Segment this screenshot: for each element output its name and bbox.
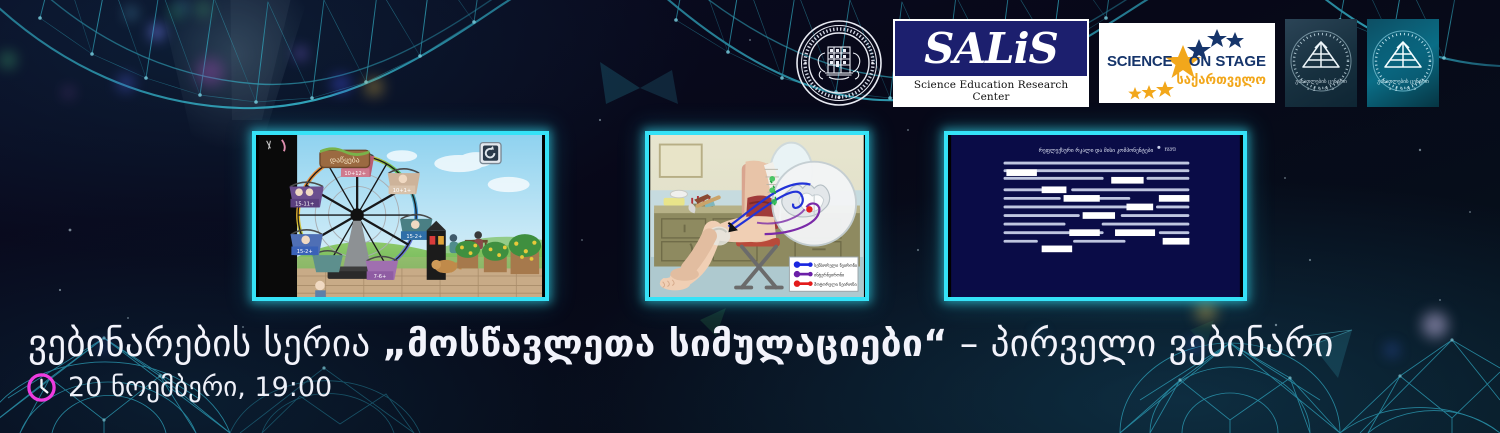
ferris-wheel-artwork: 10+12+ 10+1+ 15-2+ xyxy=(256,135,545,297)
svg-text:მოტორული ნეირონი: მოტორული ნეირონი xyxy=(814,282,856,287)
svg-text:ჯგუფ: ჯგუფ xyxy=(1165,146,1176,152)
ferris-sign-caption: დაწყება xyxy=(330,156,360,165)
salis-banner: SALiS xyxy=(895,21,1087,76)
logo-education-center-light[interactable]: განათლების ცენტრი ა ჭ ა რ ა xyxy=(1285,19,1357,107)
neuron-legend: სენსორული ნეირონი ინტერნეირონი მოტორული … xyxy=(789,257,858,291)
svg-text:ინტერნეირონი: ინტერნეირონი xyxy=(814,272,844,277)
page-title: ვებინარების სერია „მოსწავლეთა სიმულაციებ… xyxy=(28,322,1334,365)
tsu-seal-icon xyxy=(795,19,883,107)
logo-tsu-seal[interactable] xyxy=(795,19,883,107)
knee-reflex-artwork: სენსორული ნეირონი ინტერნეირონი მოტორული … xyxy=(649,135,865,297)
clock-icon xyxy=(26,372,57,403)
title-suffix: – პირველი ვებინარი xyxy=(948,322,1334,365)
svg-text:15-11+: 15-11+ xyxy=(295,202,314,208)
svg-text:15-2+: 15-2+ xyxy=(297,249,313,255)
svg-text:7-6+: 7-6+ xyxy=(374,274,387,280)
logo-bar: SALiS Science Education Research Center xyxy=(795,18,1439,108)
salis-wordmark: SALiS xyxy=(924,28,1058,70)
datetime-text: 20 ნოემბერი, 19:00 xyxy=(68,372,332,403)
svg-text:10+1+: 10+1+ xyxy=(393,188,411,194)
science-on-stage-line2: ON STAGE xyxy=(1189,53,1266,70)
worksheet-slide-title: რეფლექსური რკალი და მისი კომპონენტები xyxy=(1039,147,1154,154)
salis-subtitle: Science Education Research Center xyxy=(895,76,1087,105)
reset-button-icon xyxy=(480,143,501,164)
worksheet-slide-artwork: რეფლექსური რკალი და მისი კომპონენტები ჯგ… xyxy=(948,135,1243,297)
logo-science-on-stage[interactable]: SCIENCE ON STAGE საქართველო xyxy=(1099,19,1275,107)
svg-text:სენსორული ნეირონი: სენსორული ნეირონი xyxy=(814,263,857,268)
svg-text:15-2+: 15-2+ xyxy=(406,234,422,240)
svg-text:ა ჭ ა რ ა: ა ჭ ა რ ა xyxy=(1307,85,1335,92)
science-on-stage-line1: SCIENCE xyxy=(1107,53,1172,70)
pyramid-emblem-icon: განათლების ცენტრი ა ჭ ა რ ა xyxy=(1367,19,1439,107)
logo-education-center-teal[interactable]: განათლების ცენტრი ა ჭ ა რ ა xyxy=(1367,19,1439,107)
science-on-stage-geo: საქართველო xyxy=(1176,73,1266,88)
title-quoted: „მოსწავლეთა სიმულაციები“ xyxy=(382,322,947,365)
thumbnail-worksheet-slide[interactable]: რეფლექსური რკალი და მისი კომპონენტები ჯგ… xyxy=(944,131,1247,301)
svg-text:10+12+: 10+12+ xyxy=(344,171,366,177)
title-prefix: ვებინარების სერია xyxy=(28,322,382,365)
pyramid-emblem-icon: განათლების ცენტრი ა ჭ ა რ ა xyxy=(1285,19,1357,107)
svg-text:განათლების ცენტრი: განათლების ცენტრი xyxy=(1295,78,1347,85)
svg-text:განათლების ცენტრი: განათლების ცენტრი xyxy=(1377,78,1429,85)
thumbnail-knee-reflex-simulation[interactable]: სენსორული ნეირონი ინტერნეირონი მოტორული … xyxy=(645,131,869,301)
svg-text:ა ჭ ა რ ა: ა ჭ ა რ ა xyxy=(1389,85,1417,92)
datetime-row: 20 ნოემბერი, 19:00 xyxy=(26,372,332,403)
light-beam-decor xyxy=(150,0,320,150)
thumbnail-ferris-wheel-simulation[interactable]: 10+12+ 10+1+ 15-2+ xyxy=(252,131,549,301)
logo-salis[interactable]: SALiS Science Education Research Center xyxy=(893,19,1089,107)
